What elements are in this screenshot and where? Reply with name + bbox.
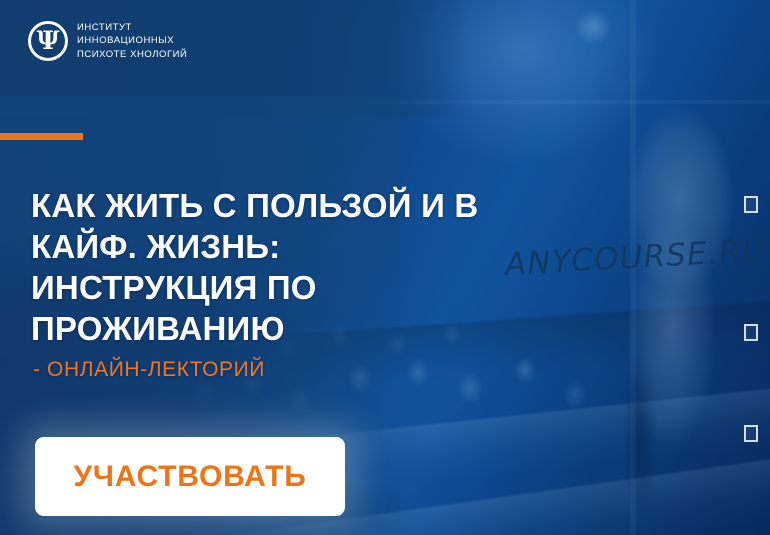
page-title: Как жить с пользой и в кайф. Жизнь: инст… xyxy=(31,185,511,349)
square-marker-1-icon[interactable] xyxy=(744,196,758,213)
brand-name: ИНСТИТУТ ИННОВАЦИОННЫХ ПСИХОТЕ ХНОЛОГИЙ xyxy=(77,21,187,61)
psi-circle-logo-icon: Ψ xyxy=(28,21,68,61)
square-marker-3-icon[interactable] xyxy=(744,425,758,442)
orange-accent-rule xyxy=(0,133,83,140)
participate-button[interactable]: Участвовать xyxy=(35,437,345,516)
subtitle: - Онлайн-лекторий xyxy=(33,357,265,383)
brand-logo[interactable]: Ψ ИНСТИТУТ ИННОВАЦИОННЫХ ПСИХОТЕ ХНОЛОГИ… xyxy=(28,21,187,61)
psi-glyph: Ψ xyxy=(37,28,60,53)
promo-banner: ANYCOURSE.RU Ψ ИНСТИТУТ ИННОВАЦИОННЫХ ПС… xyxy=(0,0,770,535)
square-marker-2-icon[interactable] xyxy=(744,324,758,341)
